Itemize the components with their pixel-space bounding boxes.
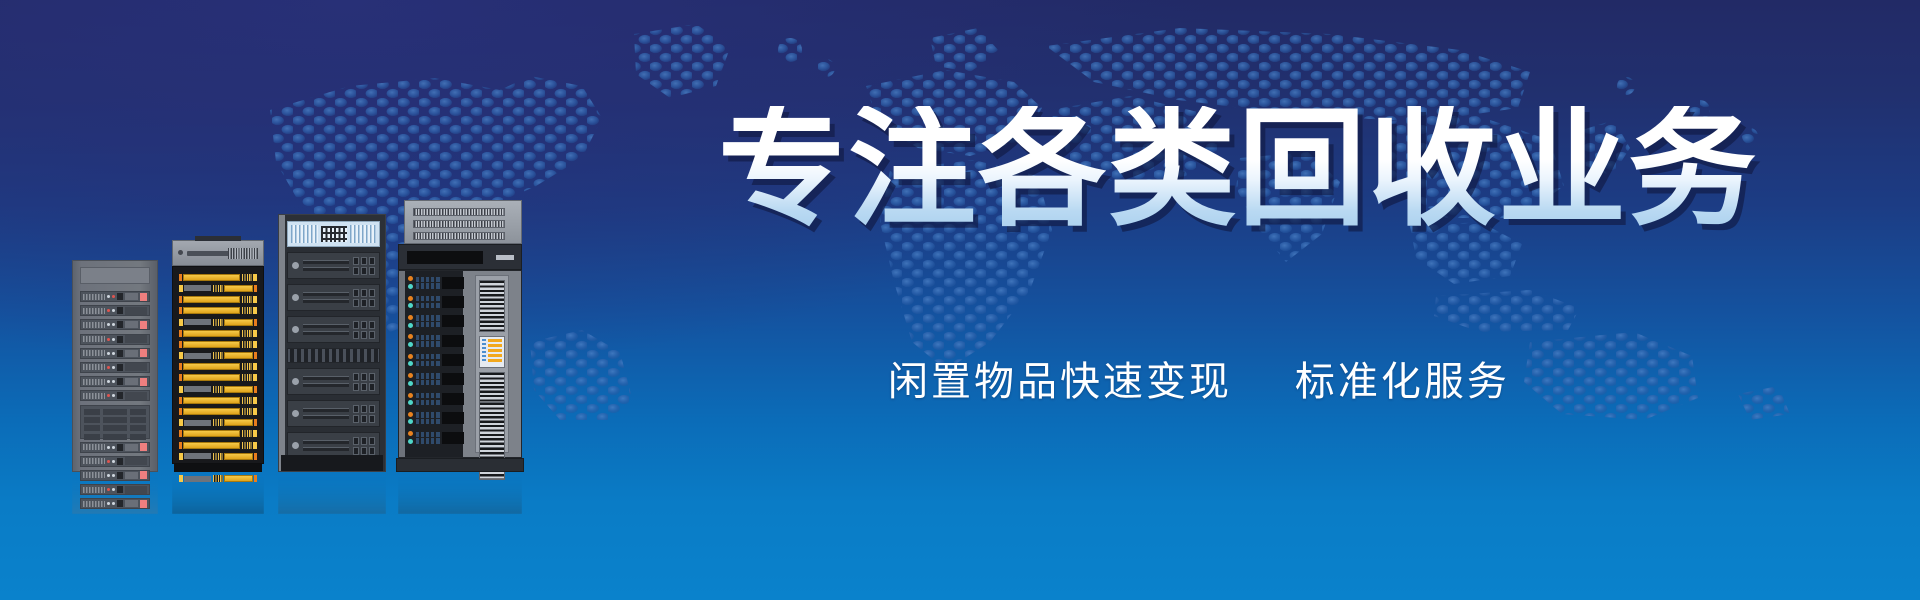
rack-2-top-panel: [172, 240, 264, 266]
rack-4-lcd-panel: [479, 336, 505, 368]
server-rack-4: [398, 200, 522, 472]
promo-banner: 专注各类回收业务 闲置物品快速变现 标准化服务: [0, 0, 1920, 600]
server-rack-2: [172, 240, 264, 472]
server-rack-3: [278, 214, 386, 472]
banner-headline: 专注各类回收业务: [718, 106, 1758, 234]
rack-1-top-cap: [80, 267, 150, 284]
banner-subtitle: 闲置物品快速变现 标准化服务: [888, 362, 1510, 402]
rack-3-display-panel: [287, 221, 380, 247]
rack-4-top-vents: [404, 200, 522, 244]
rack-3-reflection: [278, 468, 386, 514]
server-racks-illustration: [60, 172, 600, 472]
rack-4-vent-column: [475, 275, 509, 453]
rack-3-bays: [287, 221, 380, 455]
rack-4-bays: [408, 275, 464, 453]
rack-2-bays: [179, 273, 257, 457]
rack-1-bays: [80, 291, 150, 465]
server-rack-1: [72, 260, 158, 472]
